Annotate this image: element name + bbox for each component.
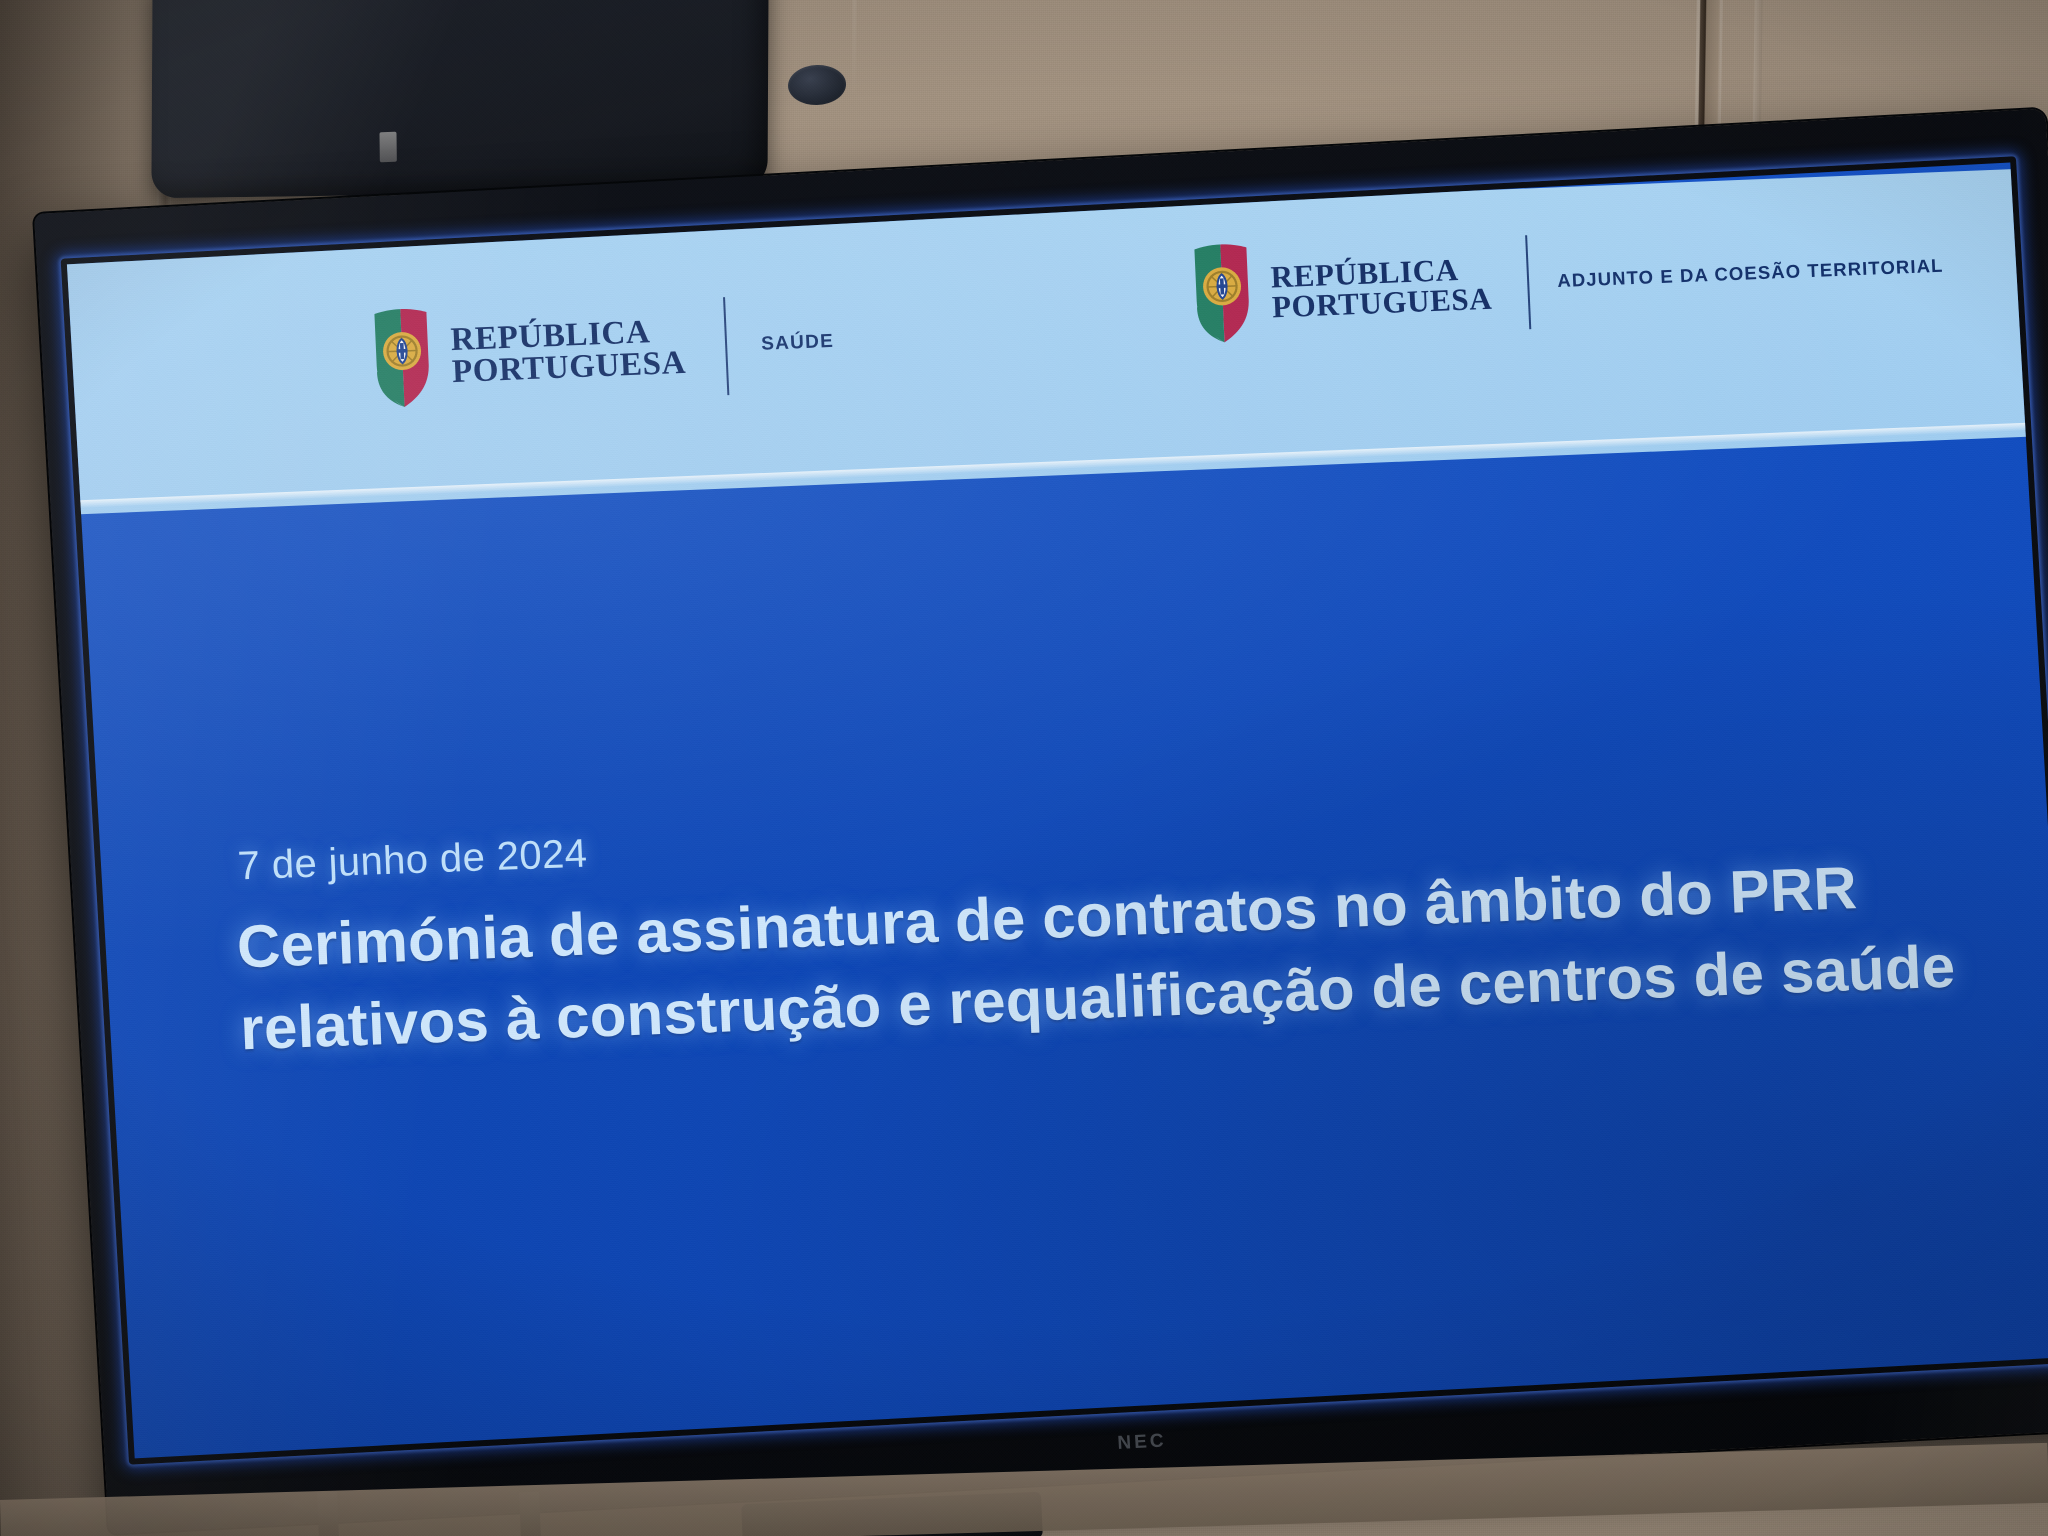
photo-scene: REPÚBLICA PORTUGUESA SAÚDE [0,0,2048,1536]
scene-vignette [0,0,2048,1536]
